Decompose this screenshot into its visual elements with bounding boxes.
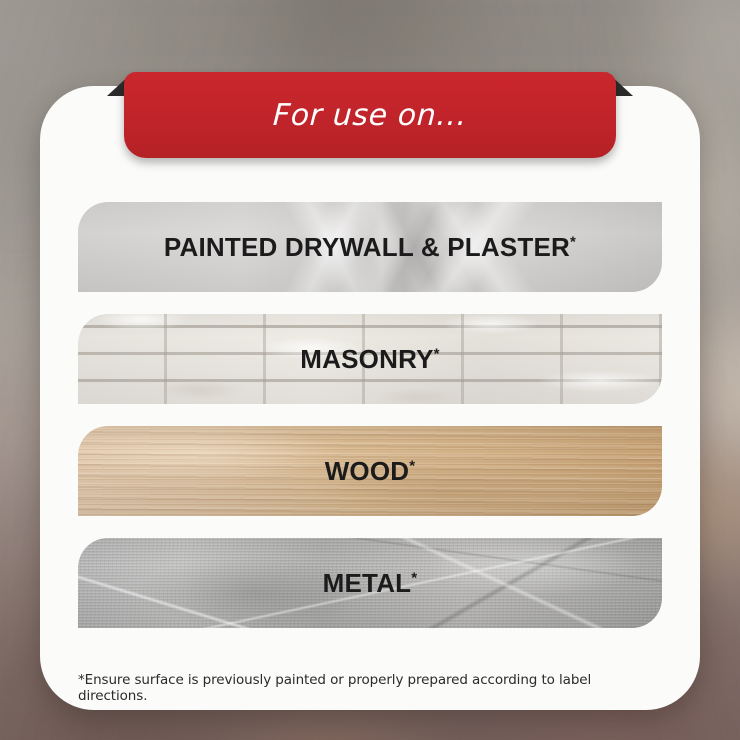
footnote-marker: * (411, 569, 417, 586)
surface-list: PAINTED DRYWALL & PLASTER* MASONRY* WOOD… (78, 202, 662, 628)
surface-band-metal: METAL* (78, 538, 662, 628)
surface-band-masonry: MASONRY* (78, 314, 662, 404)
surface-label-metal: METAL* (323, 568, 418, 599)
surface-label-wood: WOOD* (325, 456, 416, 487)
footnote-marker: * (434, 345, 440, 362)
footnote-marker: * (570, 233, 576, 250)
surface-label-masonry: MASONRY* (300, 344, 439, 375)
surface-band-painted-drywall-and-plaster: PAINTED DRYWALL & PLASTER* (78, 202, 662, 292)
header-ribbon: For use on... (124, 72, 616, 158)
surface-band-wood: WOOD* (78, 426, 662, 516)
footnote-marker: * (409, 457, 415, 474)
surface-label-painted-drywall-and-plaster: PAINTED DRYWALL & PLASTER* (164, 232, 576, 263)
screenshot-root: For use on... PAINTED DRYWALL & PLASTER*… (0, 0, 740, 740)
footnote-text: *Ensure surface is previously painted or… (78, 672, 662, 704)
page-title: For use on... (272, 98, 468, 133)
